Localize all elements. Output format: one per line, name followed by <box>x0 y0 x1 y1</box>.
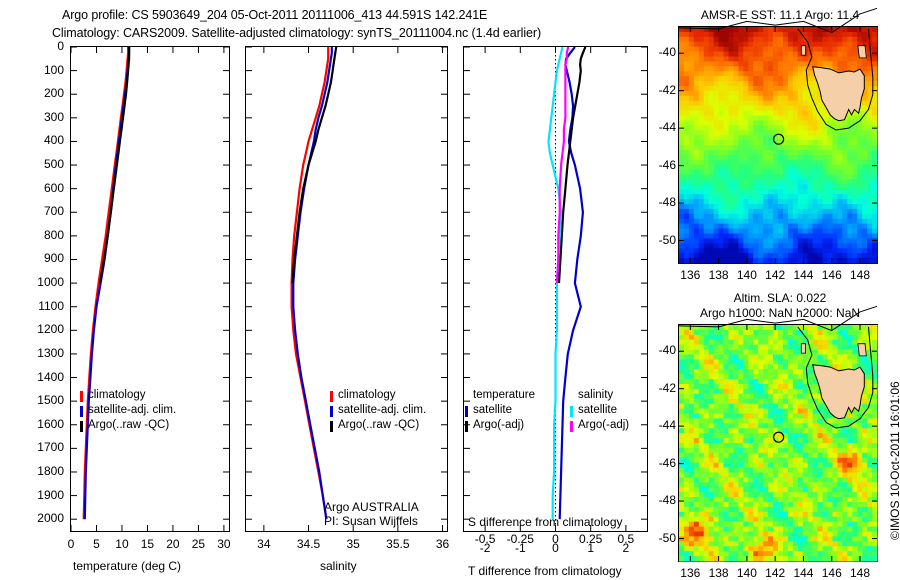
x-tick-label: 34 <box>246 537 282 551</box>
sla-map-panel: Altim. SLA: 0.022 Argo h1000: NaN h2000:… <box>660 285 900 580</box>
legend-label: satellite <box>578 404 617 416</box>
y-tick-label: 100 <box>0 63 64 77</box>
longitude-tick-label: 138 <box>703 268 735 282</box>
legend-label: Argo(-adj) <box>473 419 524 431</box>
longitude-tick-label: 144 <box>787 566 819 580</box>
legend-label: climatology <box>338 389 396 401</box>
x-tick-label: 35.5 <box>380 537 416 551</box>
latitude-tick-label: -44 <box>640 418 676 432</box>
legend-color-swatch <box>465 421 468 432</box>
longitude-tick-label: 142 <box>759 566 791 580</box>
x-tick-label: 20 <box>161 537 185 551</box>
longitude-tick-label: 138 <box>703 566 735 580</box>
legend-color-swatch <box>80 391 83 402</box>
salinity-difference-axis-label: S difference from climatology <box>468 515 623 529</box>
salinity-panel: salinity climatologysatellite-adj. clim.… <box>240 0 455 580</box>
x-tick-label: 5 <box>84 537 108 551</box>
y-tick-label: 1000 <box>0 275 64 289</box>
latitude-tick-label: -46 <box>640 158 676 172</box>
y-tick-label: 1400 <box>0 370 64 384</box>
argo-australia-credit: Argo AUSTRALIA <box>324 500 419 514</box>
sst-map-panel: AMSR-E SST: 11.1 Argo: 11.4 -40-42-44-46… <box>660 0 900 290</box>
longitude-tick-label: 142 <box>759 268 791 282</box>
latitude-tick-label: -48 <box>640 493 676 507</box>
legend-color-swatch <box>570 406 573 417</box>
temperature-axis-label: temperature (deg C) <box>73 559 181 573</box>
legend-label: Argo(..raw -QC) <box>338 419 419 431</box>
temperature-panel: temperature (deg C) climatologysatellite… <box>0 0 240 580</box>
legend-label: Argo(-adj) <box>578 419 629 431</box>
latitude-tick-label: -50 <box>640 233 676 247</box>
x-tick-label: 30 <box>212 537 236 551</box>
legend-color-swatch <box>330 421 333 432</box>
x-tick-label: 34.5 <box>291 537 327 551</box>
latitude-tick-label: -42 <box>640 381 676 395</box>
legend-group-header: temperature <box>473 389 535 401</box>
x-tick-label: 35 <box>335 537 371 551</box>
y-tick-label: 500 <box>0 157 64 171</box>
latitude-tick-label: -44 <box>640 120 676 134</box>
sla-map-title-line1: Altim. SLA: 0.022 <box>660 291 900 305</box>
longitude-tick-label: 136 <box>674 566 706 580</box>
legend-group-header: salinity <box>578 389 613 401</box>
sst-map-title: AMSR-E SST: 11.1 Argo: 11.4 <box>660 8 900 22</box>
y-tick-label: 700 <box>0 204 64 218</box>
y-tick-label: 900 <box>0 251 64 265</box>
difference-panel: S difference from climatology T differen… <box>455 0 660 580</box>
x-tick-label: 0 <box>59 537 83 551</box>
salinity-axis-label: salinity <box>320 559 357 573</box>
y-tick-label: 1500 <box>0 393 64 407</box>
longitude-tick-label: 148 <box>844 268 876 282</box>
legend-label: satellite <box>473 404 512 416</box>
legend-label: climatology <box>88 389 146 401</box>
x-tick-label-top: -0.5 <box>467 532 503 546</box>
latitude-tick-label: -50 <box>640 531 676 545</box>
latitude-tick-label: -48 <box>640 195 676 209</box>
longitude-tick-label: 146 <box>816 566 848 580</box>
difference-plot-canvas <box>464 47 647 531</box>
salinity-plot-canvas <box>246 47 447 531</box>
x-tick-label-top: 0 <box>538 532 574 546</box>
temperature-difference-axis-label: T difference from climatology <box>468 564 622 578</box>
longitude-tick-label: 140 <box>731 268 763 282</box>
longitude-tick-label: 148 <box>844 566 876 580</box>
legend-color-swatch <box>80 421 83 432</box>
legend-label: satellite-adj. clim. <box>338 404 426 416</box>
temperature-plot-canvas <box>71 47 229 531</box>
y-tick-label: 1300 <box>0 346 64 360</box>
latitude-tick-label: -40 <box>640 45 676 59</box>
y-tick-label: 0 <box>0 39 64 53</box>
legend-color-swatch <box>330 406 333 417</box>
latitude-tick-label: -42 <box>640 83 676 97</box>
imos-credit: ©IMOS 10-Oct-2011 16:01:06 <box>888 381 900 540</box>
longitude-tick-label: 140 <box>731 566 763 580</box>
sla-map-title-line2: Argo h1000: NaN h2000: NaN <box>660 306 900 320</box>
y-tick-label: 400 <box>0 133 64 147</box>
longitude-tick-label: 136 <box>674 268 706 282</box>
y-tick-label: 800 <box>0 228 64 242</box>
legend-color-swatch <box>80 406 83 417</box>
y-tick-label: 1200 <box>0 322 64 336</box>
argo-pi-credit: PI: Susan Wijffels <box>324 514 418 528</box>
longitude-tick-label: 146 <box>816 268 848 282</box>
latitude-tick-label: -46 <box>640 456 676 470</box>
latitude-tick-label: -40 <box>640 343 676 357</box>
y-tick-label: 1700 <box>0 440 64 454</box>
legend-label: satellite-adj. clim. <box>88 404 176 416</box>
x-tick-label-top: 0.5 <box>608 532 644 546</box>
y-tick-label: 1900 <box>0 488 64 502</box>
x-tick-label: 25 <box>186 537 210 551</box>
legend-color-swatch <box>330 391 333 402</box>
legend-color-swatch <box>465 406 468 417</box>
y-tick-label: 1600 <box>0 417 64 431</box>
y-tick-label: 1800 <box>0 464 64 478</box>
x-tick-label: 10 <box>110 537 134 551</box>
y-tick-label: 300 <box>0 110 64 124</box>
sst-map-canvas <box>679 27 877 263</box>
x-tick-label: 15 <box>135 537 159 551</box>
x-tick-label-top: 0.25 <box>573 532 609 546</box>
longitude-tick-label: 144 <box>787 268 819 282</box>
y-tick-label: 2000 <box>0 511 64 525</box>
legend-label: Argo(..raw -QC) <box>88 419 169 431</box>
x-tick-label-top: -0.25 <box>502 532 538 546</box>
y-tick-label: 1100 <box>0 299 64 313</box>
sla-map-canvas <box>679 325 877 561</box>
y-tick-label: 200 <box>0 86 64 100</box>
legend-color-swatch <box>570 421 573 432</box>
y-tick-label: 600 <box>0 181 64 195</box>
